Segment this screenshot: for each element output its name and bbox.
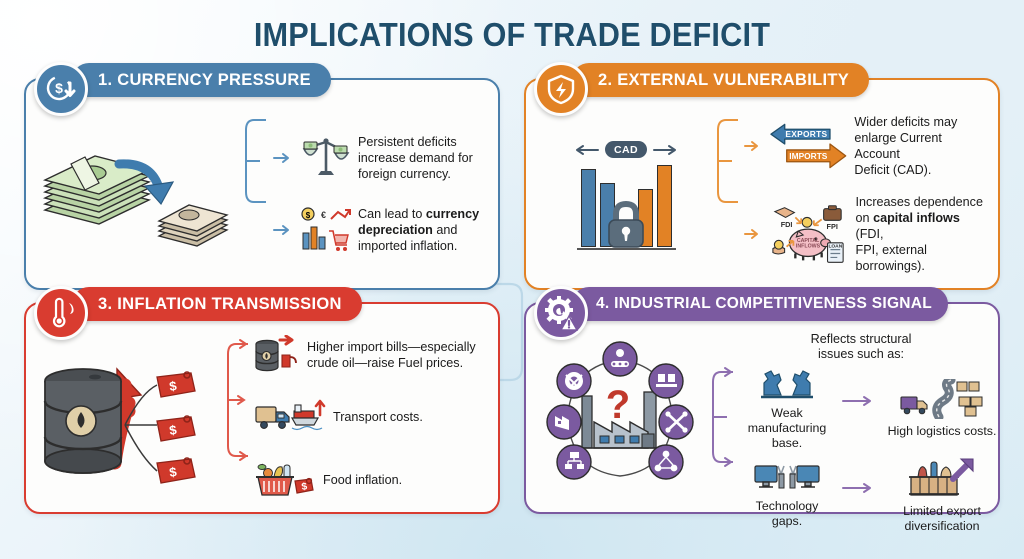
grocery-basket-price-tag-icon: $ <box>254 459 316 501</box>
question-mark-icon: ? <box>605 383 629 427</box>
panel-1-heading: 1. CURRENCY PRESSURE <box>72 63 331 97</box>
arrow-right-icon <box>652 144 678 156</box>
thermometer-flame-icon <box>34 286 88 340</box>
point-3-3-text: Food inflation. <box>323 472 402 488</box>
imports-label: IMPORTS <box>789 151 828 161</box>
bar-chart-lock-artwork: CAD <box>536 106 716 282</box>
arrow-right-icon <box>841 394 877 408</box>
panel-2-heading: 2. EXTERNAL VULNERABILITY <box>572 63 869 97</box>
arrow-right-icon <box>841 481 877 495</box>
balance-scale-money-icon <box>301 135 351 181</box>
point-2-1-text: Wider deficits may enlarge Current Accou… <box>854 114 988 178</box>
panel-external-vulnerability[interactable]: 2. EXTERNAL VULNERABILITY CAD <box>524 78 1000 290</box>
arrow-left-icon <box>574 144 600 156</box>
arrow-right-icon <box>272 150 294 166</box>
outcome-row-manufacturing: Weak manufacturing base. <box>739 367 1001 451</box>
label-weak-manufacturing: Weak manufacturing base. <box>739 406 835 451</box>
svg-text:INFLOWS: INFLOWS <box>795 244 820 250</box>
truck-cargo-ship-icon <box>254 397 326 437</box>
piggy-bank-capital-inflows-icon: FDI FPI <box>769 203 849 265</box>
point-1-1-text: Persistent deficits increase demand for … <box>358 134 473 182</box>
fpi-label: FPI <box>826 222 837 231</box>
oil-barrel-icon <box>45 369 121 473</box>
outcome-row-technology: Technology gaps. <box>739 457 1001 534</box>
exports-imports-arrows-icon: EXPORTS IMPORTS <box>769 120 848 172</box>
dollar-circle-arrow-down-icon: $ <box>34 62 88 116</box>
point-fuel-prices: Higher import bills—especially crude oil… <box>254 335 488 375</box>
cash-stack-artwork <box>36 106 244 282</box>
svg-text:$: $ <box>306 211 311 220</box>
point-food-inflation: $ Food inflation. <box>254 459 488 501</box>
point-2-2-text: Increases dependence on capital inflows … <box>856 194 988 275</box>
cad-indicator: CAD <box>574 141 678 158</box>
arrow-right-icon <box>744 227 762 241</box>
point-current-account-deficit: EXPORTS IMPORTS Wider deficits may enlar… <box>744 114 988 178</box>
padlock-icon <box>603 197 649 249</box>
point-currency-depreciation: $ € Can lead to currency <box>272 206 488 254</box>
svg-text:$: $ <box>55 80 63 96</box>
point-1-2-text: Can lead to currency depreciation and im… <box>358 206 479 254</box>
export-crate-arrow-icon <box>903 457 981 499</box>
fdi-label: FDI <box>780 220 792 229</box>
brace-connector-1 <box>244 106 270 202</box>
oil-barrel-fuel-pump-icon <box>254 335 300 375</box>
oil-barrel-artwork: $ $ $ <box>36 330 226 506</box>
road-truck-boxes-icon <box>899 379 985 419</box>
panels-grid: $ 1. CURRENCY PRESSURE <box>24 78 1000 538</box>
factory-network-icon: ? <box>538 334 710 502</box>
broken-gears-icon <box>760 367 814 401</box>
currency-chart-cart-icon: $ € <box>301 207 351 253</box>
point-3-1-text: Higher import bills—especially crude oil… <box>307 339 476 371</box>
shield-lightning-icon <box>534 62 588 116</box>
brace-connector-4 <box>711 354 737 484</box>
panel-4-caption: Reflects structural issues such as: <box>721 332 1001 363</box>
label-limited-export: Limited export diversification <box>883 504 1001 534</box>
monitors-broken-bridge-icon <box>754 462 820 494</box>
point-currency-demand: Persistent deficits increase demand for … <box>272 134 488 182</box>
gear-wrench-warning-icon <box>534 286 588 340</box>
panel-inflation-transmission[interactable]: 3. INFLATION TRANSMISSION <box>24 302 500 514</box>
point-capital-inflows: FDI FPI <box>744 194 988 275</box>
arrow-right-icon <box>272 222 294 238</box>
panel-industrial-competitiveness[interactable]: 4. INDUSTRIAL COMPETITIVENESS SIGNAL <box>524 302 1000 514</box>
panel-4-heading: 4. INDUSTRIAL COMPETITIVENESS SIGNAL <box>572 287 948 321</box>
page-title: IMPLICATIONS OF TRADE DEFICIT <box>36 0 988 54</box>
label-high-logistics: High logistics costs. <box>883 424 1001 439</box>
brace-connector-3 <box>226 330 252 470</box>
loan-label: LOAN <box>828 244 842 250</box>
arrow-right-icon <box>744 139 762 153</box>
price-tag-icon: $ <box>157 372 195 397</box>
panel-3-heading: 3. INFLATION TRANSMISSION <box>72 287 362 321</box>
point-3-2-text: Transport costs. <box>333 409 423 425</box>
exports-label: EXPORTS <box>785 129 827 139</box>
brace-connector-2 <box>716 106 742 202</box>
bar-chart-icon <box>581 161 672 247</box>
svg-text:€: € <box>321 210 326 220</box>
point-transport-costs: Transport costs. <box>254 397 488 437</box>
panel-currency-pressure[interactable]: $ 1. CURRENCY PRESSURE <box>24 78 500 290</box>
cad-label: CAD <box>605 141 647 158</box>
label-technology-gaps: Technology gaps. <box>739 499 835 529</box>
factory-network-artwork: ? <box>536 330 711 506</box>
